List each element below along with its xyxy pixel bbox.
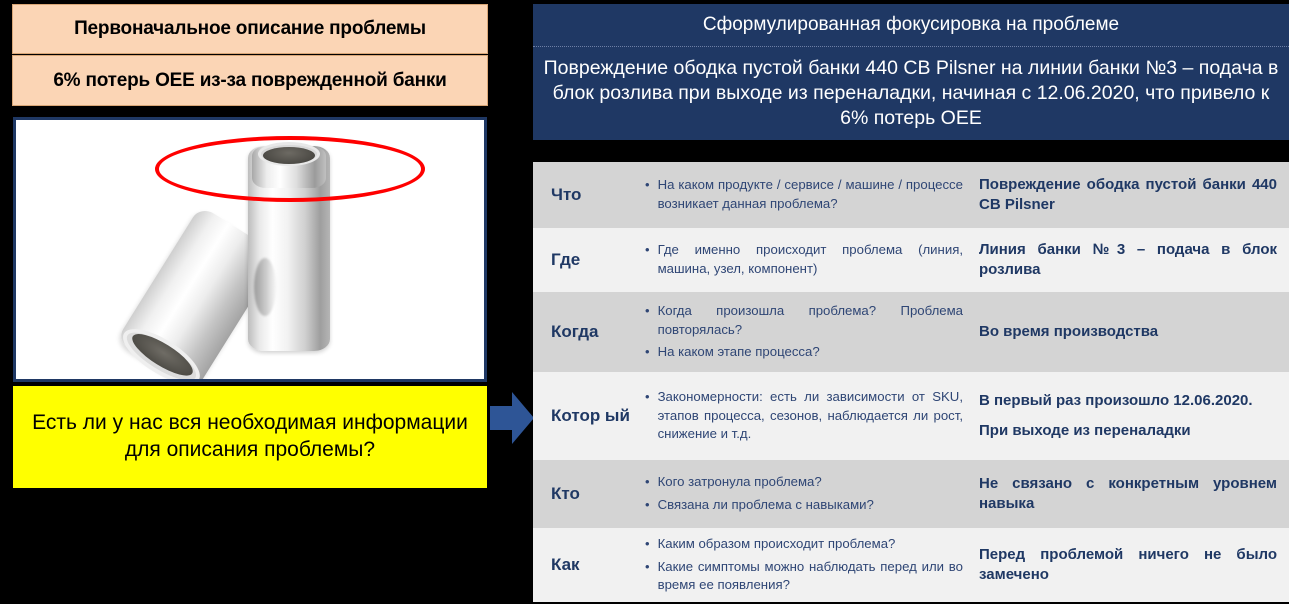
bullet-dot-icon: •	[645, 176, 650, 194]
table-row[interactable]: Где•Где именно происходит проблема (лини…	[533, 228, 1289, 292]
initial-problem-statistic: 6% потерь OEE из-за поврежденной банки	[12, 55, 488, 106]
bullet-dot-icon: •	[645, 473, 650, 491]
open-question-box: Есть ли у нас вся необходимая информации…	[13, 386, 487, 488]
prompt-text: На каком этапе процесса?	[658, 343, 963, 362]
answer-text: Во время производства	[979, 322, 1277, 342]
answer-text: Линия банки №3 – подача в блок розлива	[979, 240, 1277, 281]
left-panel: Первоначальное описание проблемы 6% поте…	[0, 0, 525, 604]
row-prompt-list: •Когда произошла проблема? Проблема повт…	[645, 292, 975, 372]
answer-text: Не связано с конкретным уровнем навыка	[979, 474, 1277, 515]
row-answer: Повреждение ободка пустой банки 440 CB P…	[975, 162, 1289, 228]
five-w-one-h-table: Что•На каком продукте / сервисе / машине…	[533, 162, 1289, 602]
prompt-text: Когда произошла проблема? Проблема повто…	[658, 302, 963, 339]
bullet-dot-icon: •	[645, 535, 650, 553]
row-answer: Не связано с конкретным уровнем навыка	[975, 460, 1289, 528]
right-panel: Сформулированная фокусировка на проблеме…	[533, 0, 1289, 604]
prompt-bullet: •Связана ли проблема с навыками?	[645, 496, 963, 515]
row-prompt-list: •На каком продукте / сервисе / машине / …	[645, 162, 975, 228]
focus-header: Сформулированная фокусировка на проблеме…	[533, 4, 1289, 140]
answer-text: В первый раз произошло 12.06.2020.	[979, 391, 1277, 411]
row-prompt-list: •Закономерности: есть ли зависимости от …	[645, 372, 975, 460]
bullet-dot-icon: •	[645, 302, 650, 320]
row-prompt-list: •Каким образом происходит проблема?•Каки…	[645, 528, 975, 602]
row-answer: В первый раз произошло 12.06.2020.При вы…	[975, 372, 1289, 460]
bullet-dot-icon: •	[645, 388, 650, 406]
row-prompt-list: •Где именно происходит проблема (линия, …	[645, 228, 975, 292]
initial-problem-title: Первоначальное описание проблемы	[12, 4, 488, 54]
focus-problem-statement: Повреждение ободка пустой банки 440 CB P…	[533, 47, 1289, 140]
prompt-text: Закономерности: есть ли зависимости от S…	[658, 388, 963, 444]
bullet-dot-icon: •	[645, 496, 650, 514]
answer-text: Повреждение ободка пустой банки 440 CB P…	[979, 175, 1277, 216]
table-row[interactable]: Как•Каким образом происходит проблема?•К…	[533, 528, 1289, 602]
row-key-label: Когда	[533, 292, 645, 372]
bullet-dot-icon: •	[645, 343, 650, 361]
prompt-bullet: •На каком продукте / сервисе / машине / …	[645, 176, 963, 213]
table-row[interactable]: Котор ый•Закономерности: есть ли зависим…	[533, 372, 1289, 460]
prompt-bullet: •Каким образом происходит проблема?	[645, 535, 963, 554]
table-row[interactable]: Когда•Когда произошла проблема? Проблема…	[533, 292, 1289, 372]
prompt-bullet: •Какие симптомы можно наблюдать перед ил…	[645, 558, 963, 595]
row-answer: Линия банки №3 – подача в блок розлива	[975, 228, 1289, 292]
prompt-bullet: •Где именно происходит проблема (линия, …	[645, 241, 963, 278]
right-arrow-icon	[490, 390, 534, 446]
row-key-label: Где	[533, 228, 645, 292]
answer-text: При выходе из переналадки	[979, 421, 1277, 441]
prompt-text: Какие симптомы можно наблюдать перед или…	[658, 558, 963, 595]
damaged-can-photo	[16, 120, 484, 379]
prompt-bullet: •На каком этапе процесса?	[645, 343, 963, 362]
bullet-dot-icon: •	[645, 558, 650, 576]
damaged-can-photo-frame	[13, 117, 487, 382]
row-key-label: Котор ый	[533, 372, 645, 460]
row-answer: Перед проблемой ничего не было замечено	[975, 528, 1289, 602]
focus-header-title: Сформулированная фокусировка на проблеме	[533, 4, 1289, 47]
row-key-label: Что	[533, 162, 645, 228]
table-row[interactable]: Кто•Кого затронула проблема?•Связана ли …	[533, 460, 1289, 528]
prompt-text: Кого затронула проблема?	[658, 473, 963, 492]
row-key-label: Кто	[533, 460, 645, 528]
answer-text: Перед проблемой ничего не было замечено	[979, 545, 1277, 586]
red-ellipse-highlight-icon	[155, 136, 425, 202]
prompt-text: На каком продукте / сервисе / машине / п…	[658, 176, 963, 213]
row-key-label: Как	[533, 528, 645, 602]
bullet-dot-icon: •	[645, 241, 650, 259]
row-answer: Во время производства	[975, 292, 1289, 372]
prompt-bullet: •Когда произошла проблема? Проблема повт…	[645, 302, 963, 339]
prompt-bullet: •Кого затронула проблема?	[645, 473, 963, 492]
prompt-bullet: •Закономерности: есть ли зависимости от …	[645, 388, 963, 444]
prompt-text: Где именно происходит проблема (линия, м…	[658, 241, 963, 278]
row-prompt-list: •Кого затронула проблема?•Связана ли про…	[645, 460, 975, 528]
table-row[interactable]: Что•На каком продукте / сервисе / машине…	[533, 162, 1289, 228]
prompt-text: Каким образом происходит проблема?	[658, 535, 963, 554]
prompt-text: Связана ли проблема с навыками?	[658, 496, 963, 515]
